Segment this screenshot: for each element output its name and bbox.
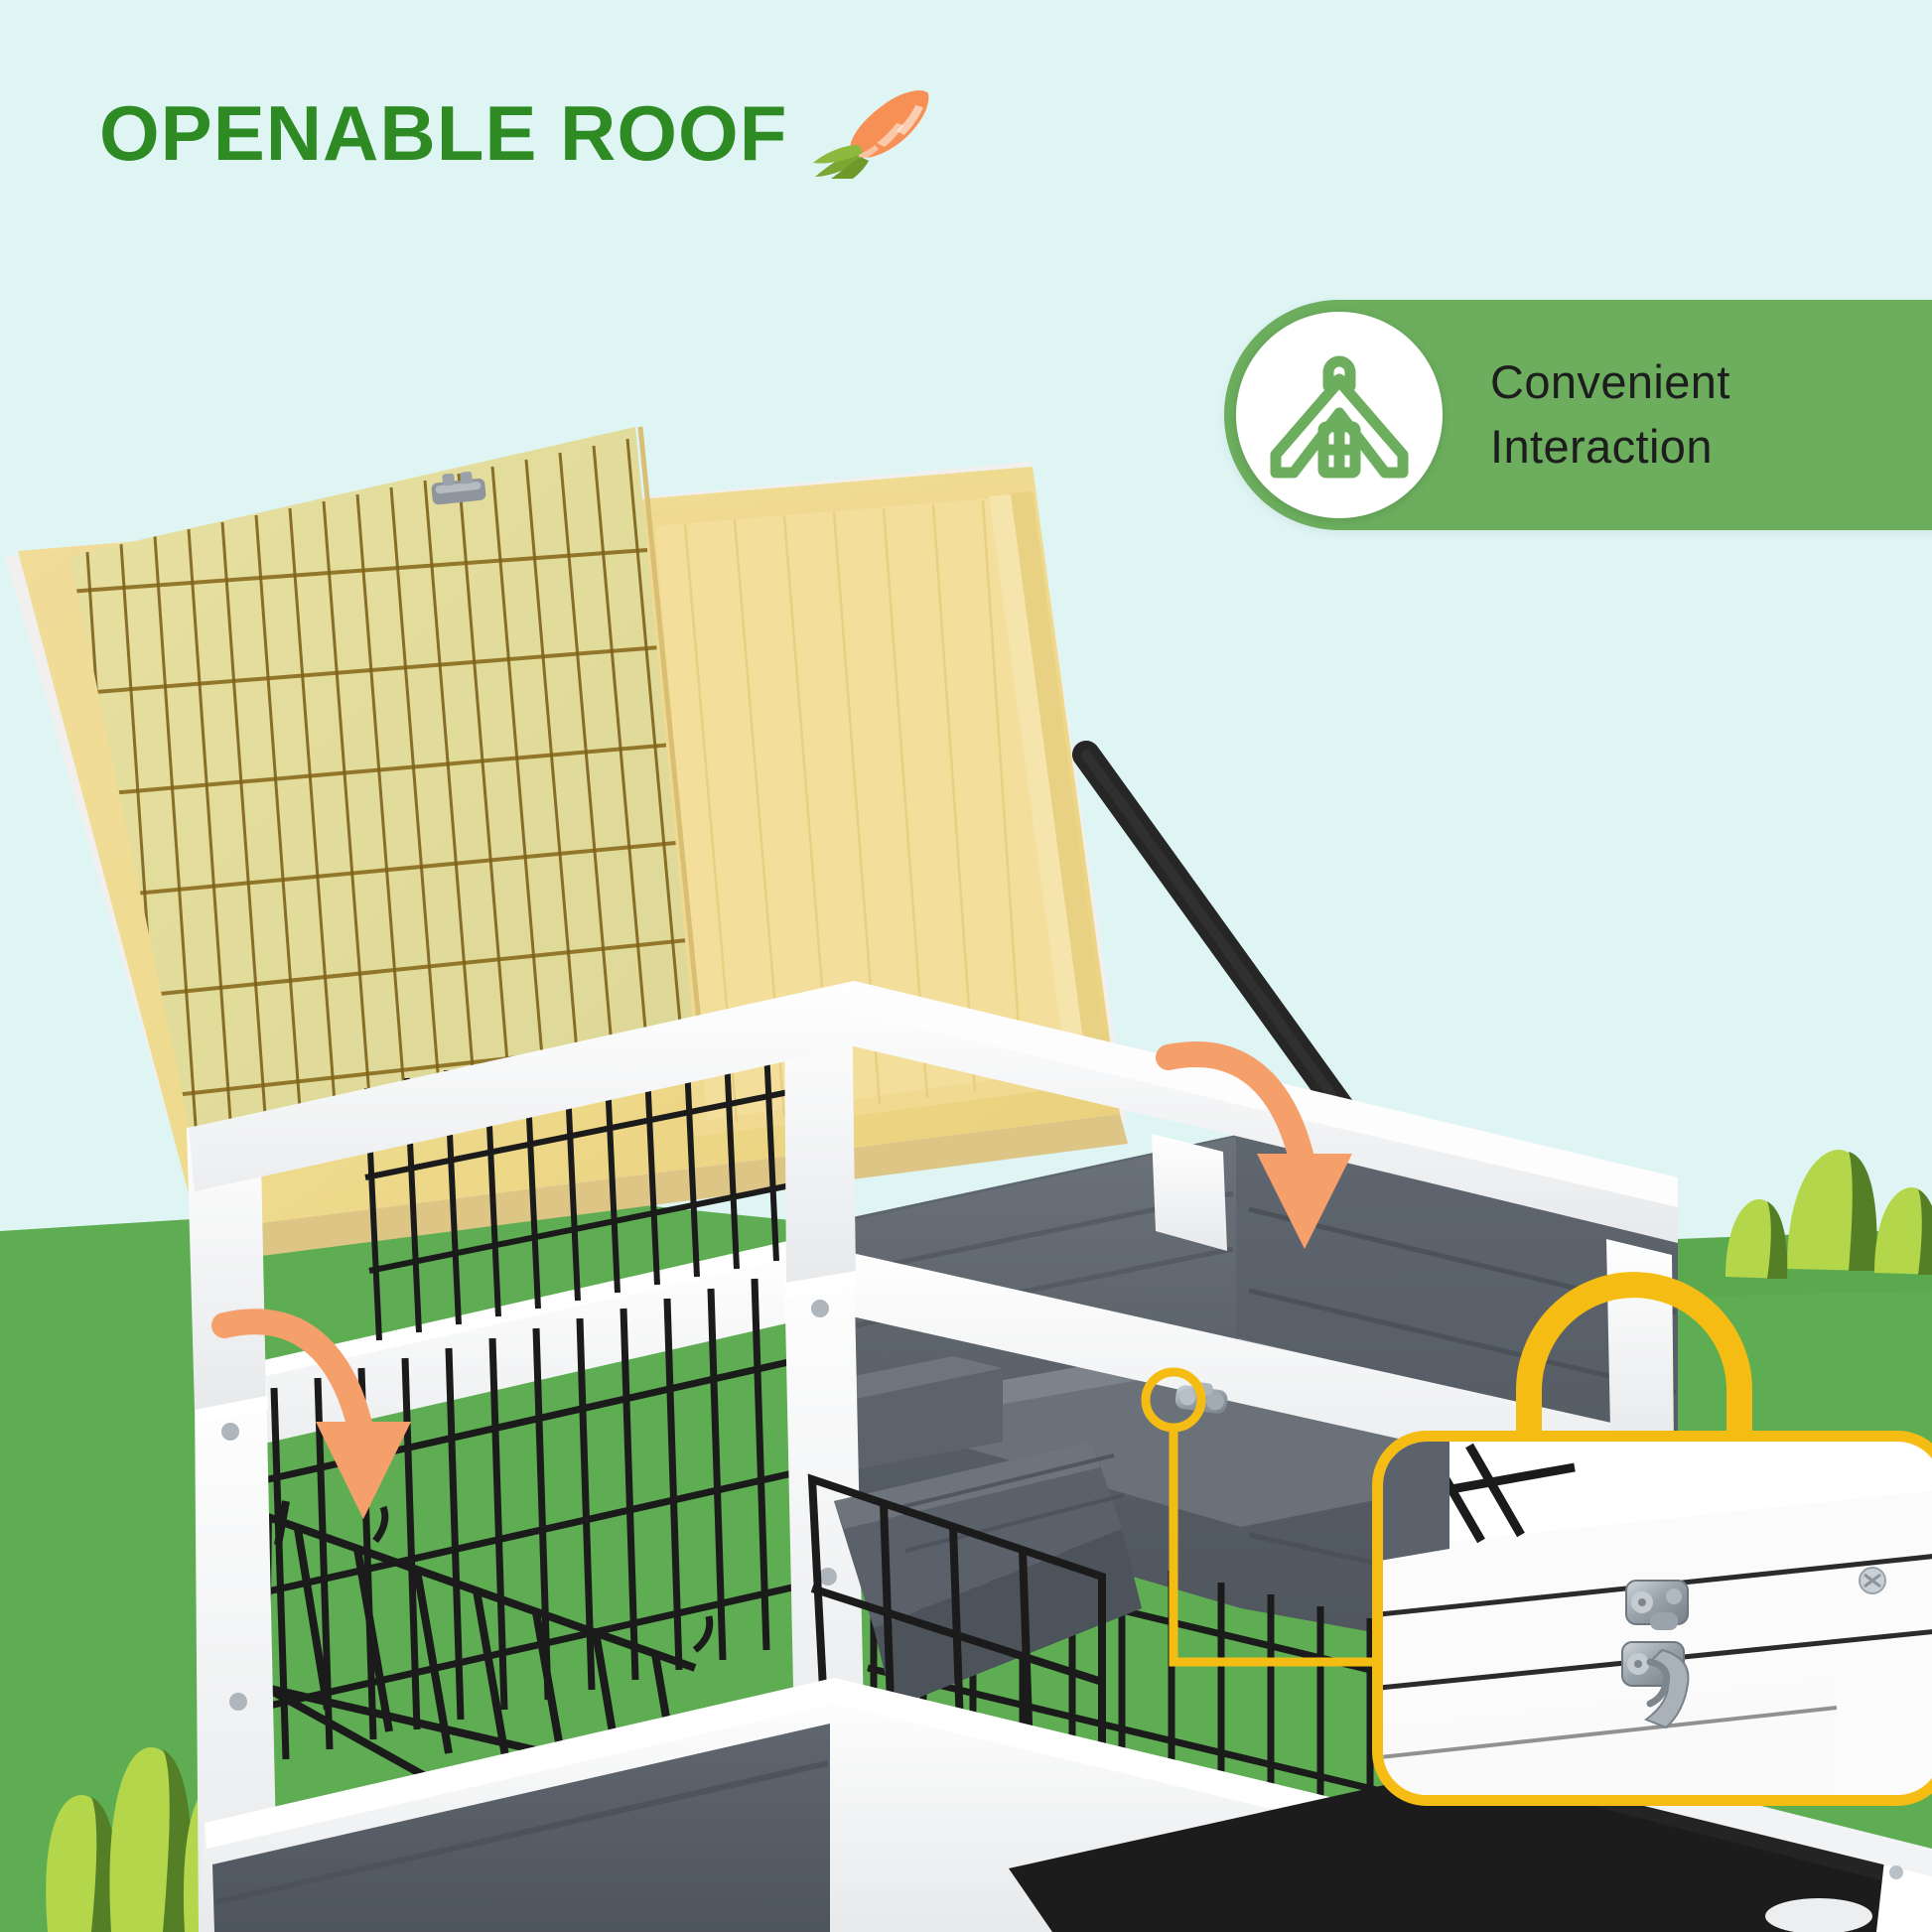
scene: OPENABLE ROOF Convenien bbox=[0, 0, 1932, 1932]
carrot-icon bbox=[813, 87, 932, 179]
badge-icon-circle bbox=[1236, 312, 1443, 518]
feature-badge-line2: Interaction bbox=[1490, 415, 1730, 480]
page-header: OPENABLE ROOF bbox=[99, 87, 932, 179]
roof-house-icon bbox=[1270, 351, 1409, 479]
feature-badge[interactable]: Convenient Interaction bbox=[1224, 300, 1932, 530]
feature-badge-text: Convenient Interaction bbox=[1490, 350, 1730, 480]
feature-badge-line1: Convenient bbox=[1490, 350, 1730, 415]
page-title: OPENABLE ROOF bbox=[99, 94, 787, 172]
product-illustration bbox=[0, 0, 1932, 1932]
